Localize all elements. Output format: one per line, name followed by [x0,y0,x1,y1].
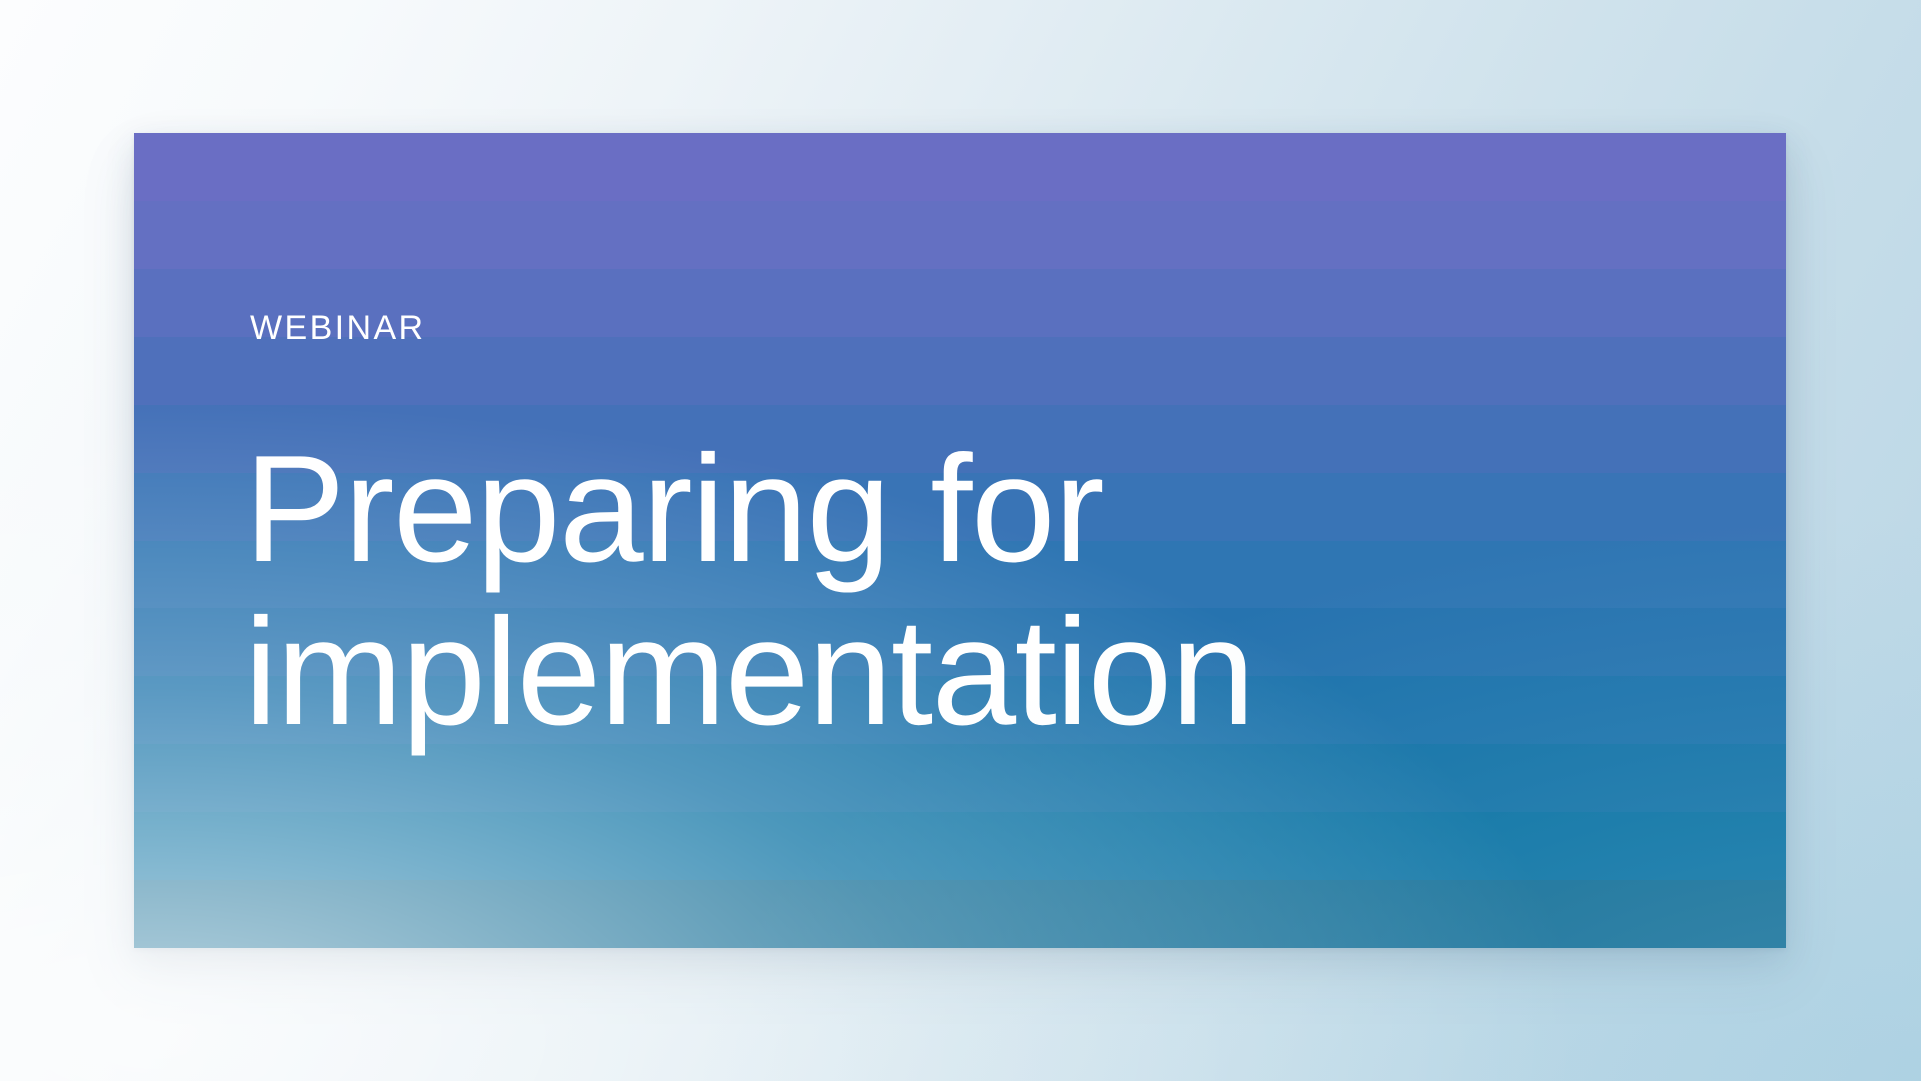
eyebrow-label: WEBINAR [250,311,425,345]
page-background: WEBINAR Preparing for implementation [0,0,1921,1081]
card-content: WEBINAR Preparing for implementation [250,133,1786,948]
webinar-title-card: WEBINAR Preparing for implementation [134,133,1786,948]
page-title: Preparing for implementation [244,428,1254,753]
